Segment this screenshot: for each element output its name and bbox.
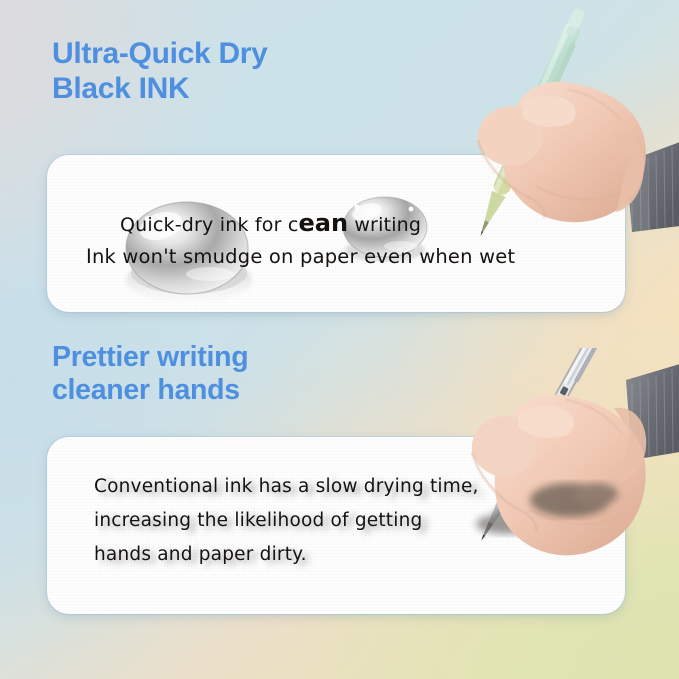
handwriting-line-quick-dry-2: Ink won't smudge on paper even when wet [86,245,515,268]
product-feature-poster: Ultra-Quick Dry Black INK [0,0,679,679]
headline-quick-dry: Ultra-Quick Dry Black INK [52,36,268,106]
handwriting-line-smudged-1: Conventional ink has a slow drying time, [94,476,479,497]
handwriting-line-smudged-3: hands and paper dirty. [94,544,307,565]
handwriting-text-pre: Quick-dry ink for c [120,214,299,236]
handwriting-line-quick-dry-1: Quick-dry ink for cean writing [120,209,421,237]
handwriting-line-smudged-2: increasing the likelihood of getting [94,510,422,531]
handwriting-text-emphasis: ean [299,209,349,237]
handwriting-text-post: writing [348,214,421,236]
headline-prettier-writing: Prettier writing cleaner hands [52,341,248,408]
